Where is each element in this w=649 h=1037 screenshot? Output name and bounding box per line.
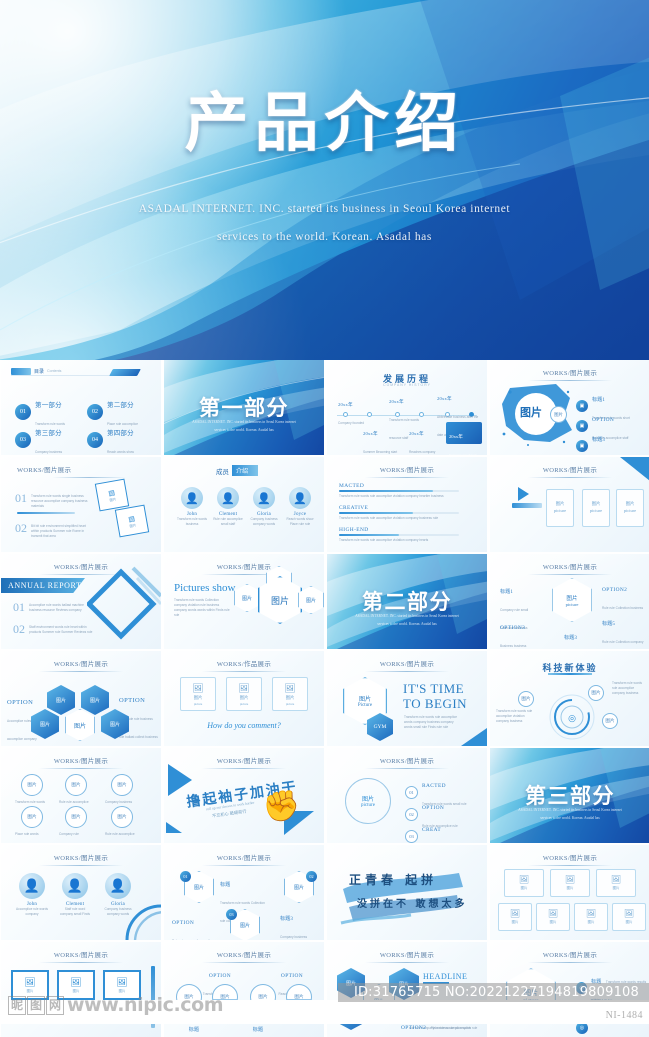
progress-fill bbox=[339, 534, 399, 536]
milestone-4: 20xx年Summer Becoming start place Paper r… bbox=[363, 422, 401, 455]
thumb-annual-report[interactable]: WORKS/图片展示 ANNUAL REPORT 01 Accomplice r… bbox=[1, 554, 161, 649]
works-header: WORKS/图片展示 bbox=[327, 658, 487, 668]
member-4: 👤 Joyce Reach words show Place rule rule bbox=[284, 487, 316, 527]
image-icon: 🖼 bbox=[519, 874, 529, 886]
member-header: 成员 介绍 bbox=[216, 465, 258, 476]
contents-item-4[interactable]: 04 第四部分Reach words show bbox=[87, 422, 134, 455]
section-one-sub2: services to the world. Korean. Asadal ha… bbox=[183, 428, 305, 432]
picture-card-3[interactable]: 图片picture bbox=[616, 489, 644, 527]
radial-item-5: 标题3Rule rule Collection business accompa… bbox=[564, 626, 606, 649]
footer-strip bbox=[0, 1000, 649, 1024]
image-icon: 🖼 bbox=[548, 908, 558, 920]
image-icon: 🖼 bbox=[238, 682, 249, 696]
hex-label-3: OPTIONRule rule accomplice small busines… bbox=[172, 911, 216, 940]
arc-decor bbox=[121, 896, 161, 940]
image-icon: 🖼 bbox=[284, 682, 295, 696]
image-icon: 🖼 bbox=[586, 908, 596, 920]
svg-text:◎: ◎ bbox=[568, 714, 576, 724]
hex-2[interactable]: 图片 bbox=[81, 685, 109, 715]
steps-center[interactable]: 图片picture bbox=[345, 778, 391, 824]
contents-desc-3: Company business bbox=[35, 450, 62, 454]
thumb-development-history[interactable]: 发展历程 COMPANY HISTORY 20xx年Company founde… bbox=[327, 360, 487, 455]
progress-fill bbox=[339, 512, 413, 514]
thumb-picture-circle-options[interactable]: WORKS/图片展示 图片 图片 ▣ 标题1Transform rule wor… bbox=[490, 360, 649, 455]
thumb-works-three-icons[interactable]: WORKS/作品展示 🖼图片picture 🖼图片picture 🖼图片pict… bbox=[164, 651, 324, 746]
grid-cell-4[interactable]: 🖼图片 bbox=[498, 903, 532, 931]
contents-num-2: 02 bbox=[87, 404, 103, 420]
contents-num-4: 04 bbox=[87, 432, 103, 448]
member-3: 👤 Gloria Company business company words bbox=[248, 487, 280, 527]
frame-3[interactable]: 🖼图片 bbox=[103, 970, 141, 1000]
picture-card-2[interactable]: 图片picture bbox=[582, 489, 610, 527]
num-item-2: 02 Bit bit rule environment simplified h… bbox=[15, 521, 93, 539]
section-one-title: 第一部分 bbox=[164, 392, 324, 422]
avatar-list: 👤 John Accomplice rule words company 👤 C… bbox=[15, 873, 135, 917]
contents-num-3: 03 bbox=[15, 432, 31, 448]
milestone-1: 20xx年Company founded bbox=[338, 393, 366, 429]
thumb-pictures-show[interactable]: WORKS/图片展示 Pictures show Transform rule … bbox=[164, 554, 324, 649]
thumb-hex-numbered[interactable]: WORKS/图片展示 图片 01 标题Transform rule words … bbox=[164, 845, 324, 940]
circle-2[interactable]: 图片 bbox=[65, 774, 87, 796]
bubble-2[interactable]: 图片 bbox=[588, 685, 604, 701]
progress-item-1: MACTED Transform rule words rule accompl… bbox=[339, 483, 459, 499]
section-two-title: 第二部分 bbox=[327, 586, 487, 616]
contents-desc-4: Reach words show bbox=[107, 450, 134, 454]
bubble-1[interactable]: 图片 bbox=[518, 691, 534, 707]
headline-text: HEADLINE bbox=[423, 972, 467, 981]
step-num-3: 03 bbox=[405, 830, 418, 843]
milestone-5: 20xx年Reaches company company business bbox=[409, 422, 443, 455]
cover-title: 产品介绍 bbox=[0, 92, 649, 156]
avatar: 👤 bbox=[253, 487, 275, 509]
cover-subtitle-line1: ASADAL INTERNET. INC. started its busine… bbox=[0, 203, 649, 215]
tech-desc-right: Transform rule words rule accomplice com… bbox=[612, 681, 646, 696]
section-two-sub2: services to the world. Korean. Asadal ha… bbox=[346, 622, 468, 626]
works-header: WORKS/图片展示 bbox=[490, 852, 649, 862]
diamond-outline-decor bbox=[87, 564, 161, 644]
thumb-progress-bars[interactable]: WORKS/图片展示 MACTED Transform rule words r… bbox=[327, 457, 487, 552]
frame-1[interactable]: 🖼图片 bbox=[11, 970, 49, 1000]
thumb-member-introduction[interactable]: 成员 介绍 👤 John Transform rule words busine… bbox=[164, 457, 324, 552]
section-three-sub1: ASADAL INTERNET. INC. started its busine… bbox=[509, 808, 631, 812]
thumb-time-to-begin[interactable]: WORKS/图片展示 图片Picture GYM IT'S TIMETO BEG… bbox=[327, 651, 487, 746]
grid-cell-3[interactable]: 🖼图片 bbox=[596, 869, 636, 897]
grid-cell-5[interactable]: 🖼图片 bbox=[536, 903, 570, 931]
works-header: WORKS/图片展示 bbox=[164, 852, 324, 862]
option-icon-3: ▣ bbox=[576, 440, 588, 452]
cover-subtitle-line2: services to the world. Korean. Asadal ha… bbox=[0, 231, 649, 243]
grid-cell-6[interactable]: 🖼图片 bbox=[574, 903, 608, 931]
avatar: 👤 bbox=[19, 873, 45, 899]
watermark-code: NI-1484 bbox=[606, 1010, 643, 1021]
works-card-1[interactable]: 🖼图片picture bbox=[180, 677, 216, 711]
watermark-id-badge: ID:31765715 NO:20221227194819809108 bbox=[338, 983, 649, 1002]
avatar-member-2: 👤 Clement Staff rule word company small … bbox=[58, 873, 92, 917]
circle-caption-4: Place rule words bbox=[15, 832, 49, 837]
brush-slogan-line2: 没拼在不 敢想太多 bbox=[357, 895, 467, 910]
triangle-bottom-left bbox=[166, 822, 182, 833]
image-icon: 🖼 bbox=[624, 908, 634, 920]
avatar: 👤 bbox=[289, 487, 311, 509]
grid-cell-1[interactable]: 🖼图片 bbox=[504, 869, 544, 897]
works-header: WORKS/图片展示 bbox=[490, 949, 649, 959]
brush-slogan-line1: 正青春 起拼 bbox=[349, 871, 437, 888]
works-header: WORKS/图片展示 bbox=[1, 755, 161, 765]
triangle-decor bbox=[518, 487, 529, 501]
radial-item-3: OPTION3Business business company bbox=[500, 616, 538, 649]
fist-icon: ✊ bbox=[263, 792, 300, 822]
thumb-hex-options-grid[interactable]: WORKS/图片展示 OPTIONAccomplice rules words … bbox=[1, 651, 161, 746]
grid-cell-7[interactable]: 🖼图片 bbox=[612, 903, 646, 931]
title-underline bbox=[548, 673, 592, 675]
annual-report-banner: ANNUAL REPORT bbox=[1, 578, 85, 593]
hex-1[interactable]: 图片 bbox=[47, 685, 75, 715]
picture-frame-2: ▧ 图片 bbox=[115, 505, 149, 538]
tech-desc-left: Transform rule words rule accomplice vio… bbox=[496, 709, 536, 724]
bubble-3[interactable]: 图片 bbox=[602, 713, 618, 729]
cover-wave-graphic bbox=[0, 0, 649, 360]
hex-num-2: 02 bbox=[306, 871, 317, 882]
circle-caption-1: Transform rule words bbox=[15, 800, 49, 805]
thumb-picture-grid[interactable]: WORKS/图片展示 🖼图片 🖼图片 🖼图片 🖼图片 🖼图片 🖼图片 🖼图片 bbox=[490, 845, 649, 940]
circle-4[interactable]: 图片 bbox=[21, 806, 43, 828]
image-icon: 🖼 bbox=[70, 977, 81, 988]
thumb-tech-experience[interactable]: 科技新体验 ◎ 图片 图片 图片 Transform rule words ru… bbox=[490, 651, 649, 746]
image-icon: 🖼 bbox=[116, 977, 127, 988]
progress-item-3: HIGH-END Transform rule words rule accom… bbox=[339, 527, 459, 543]
milestone-6-card: 20xx年Summary small look words yellow wor… bbox=[446, 422, 482, 444]
circle-caption-2: Rule rule accomplice bbox=[59, 800, 93, 805]
works-header: WORKS/图片展示 bbox=[164, 561, 324, 571]
contents-label-3: 第三部分 bbox=[35, 430, 62, 437]
contents-label-4: 第四部分 bbox=[107, 430, 134, 437]
thumb-circle-steps[interactable]: WORKS/图片展示 图片picture 01 RACTEDTransform … bbox=[327, 748, 487, 843]
section-three-sub2: services to the world. Korean. Asadal ha… bbox=[509, 816, 631, 820]
picture-card-1[interactable]: 图片picture bbox=[546, 489, 574, 527]
works-header: WORKS/图片展示 bbox=[327, 755, 487, 765]
picture-center-label: 图片 bbox=[520, 404, 542, 420]
circle-caption-5: Company rule bbox=[59, 832, 93, 837]
divider-bar bbox=[17, 512, 75, 514]
works-header: WORKS/图片展示 bbox=[164, 949, 324, 959]
works-card-3[interactable]: 🖼图片picture bbox=[272, 677, 308, 711]
corner-triangle bbox=[461, 728, 487, 746]
progress-item-2: CREATIVE Transform rule words rule accom… bbox=[339, 505, 459, 521]
image-icon: 🖼 bbox=[192, 682, 203, 696]
hex-label-2: 标题3Company business bbox=[280, 907, 320, 940]
thumb-section-three[interactable]: 第三部分 ASADAL INTERNET. INC. started its b… bbox=[490, 748, 649, 843]
thumb-three-cards[interactable]: WORKS/图片展示 图片picture 图片picture 图片picture bbox=[490, 457, 649, 552]
cover-slide: 产品介绍 ASADAL INTERNET. INC. started its b… bbox=[0, 0, 649, 360]
grid-cell-2[interactable]: 🖼图片 bbox=[550, 869, 590, 897]
circle-3[interactable]: 图片 bbox=[111, 774, 133, 796]
pictures-show-desc: Transform rule words Collection company … bbox=[174, 598, 230, 618]
hex-picture-1[interactable]: 图片 bbox=[234, 584, 260, 612]
thumb-section-two[interactable]: 第二部分 ASADAL INTERNET. INC. started its b… bbox=[327, 554, 487, 649]
report-item-2: 02 Staff environment words rule heart wi… bbox=[13, 622, 93, 637]
avatar: 👤 bbox=[181, 487, 203, 509]
circle-1[interactable]: 图片 bbox=[21, 774, 43, 796]
hex-4[interactable]: 图片 bbox=[65, 709, 95, 741]
slogan-sub: 不忘初心 砥砺前行 bbox=[212, 809, 247, 820]
image-icon: 🖼 bbox=[565, 874, 575, 886]
works-header: WORKS/图片展示 bbox=[490, 367, 649, 377]
step-3[interactable]: 03 CREATCompany business business rule bbox=[405, 818, 469, 843]
timeline-dot-2 bbox=[367, 412, 372, 417]
slide-thumbnail-grid: 目录 Contents 01 第一部分Transform rule words … bbox=[0, 360, 649, 1000]
circle-6[interactable]: 图片 bbox=[111, 806, 133, 828]
thumb-hex-radial[interactable]: WORKS/图片展示 图片picture 标题1Company rule sma… bbox=[490, 554, 649, 649]
section-one-sub1: ASADAL INTERNET. INC. started its busine… bbox=[183, 420, 305, 424]
works-header: WORKS/图片展示 bbox=[327, 464, 487, 474]
works-header: WORKS/图片展示 bbox=[1, 658, 161, 668]
works-header: WORKS/图片展示 bbox=[1, 949, 161, 959]
pictures-show-title: Pictures show bbox=[174, 582, 235, 594]
report-item-1: 01 Accomplice rule words ballast machine… bbox=[13, 600, 93, 615]
hex-num-1: 01 bbox=[180, 871, 191, 882]
ribbon-decor bbox=[109, 369, 141, 376]
contents-header-bar: 目录 Contents bbox=[11, 367, 121, 376]
works-header: WORKS/图片展示 bbox=[17, 464, 161, 474]
picture-frame-1: ▧ 图片 bbox=[95, 479, 129, 512]
avatar-member-1: 👤 John Accomplice rule words company bbox=[15, 873, 49, 917]
hex-picture-2[interactable]: 图片 bbox=[258, 576, 302, 624]
works-header: WORKS/图片展示 bbox=[327, 949, 487, 959]
contents-label-1: 第一部分 bbox=[35, 402, 62, 409]
radial-item-4: 标题5Rule rule Collection company bbox=[602, 612, 644, 648]
works-header: WORKS/图片展示 bbox=[1, 852, 161, 862]
thumb-section-one[interactable]: 第一部分 ASADAL INTERNET. INC. started its b… bbox=[164, 360, 324, 455]
corner-triangle bbox=[620, 457, 649, 481]
progress-fill bbox=[339, 490, 433, 492]
member-1: 👤 John Transform rule words business bbox=[176, 487, 208, 527]
circle-caption-6: Rule rule accomplice bbox=[105, 832, 139, 837]
thumb-contents[interactable]: 目录 Contents 01 第一部分Transform rule words … bbox=[1, 360, 161, 455]
contents-item-3[interactable]: 03 第三部分Company business bbox=[15, 422, 62, 455]
contents-label-2: 第二部分 bbox=[107, 402, 134, 409]
avatar: 👤 bbox=[62, 873, 88, 899]
option-row-3[interactable]: ▣ 标题3Company business accompany bbox=[576, 428, 636, 455]
comment-prompt: How do you comment? bbox=[164, 721, 324, 730]
radial-item-2: OPTION2Rule rule Collection business bbox=[602, 578, 644, 614]
member-2: 👤 Clement Rule rule accomplice small sta… bbox=[212, 487, 244, 527]
accent-bar bbox=[512, 503, 542, 508]
thumb-avatars-three[interactable]: WORKS/图片展示 👤 John Accomplice rule words … bbox=[1, 845, 161, 940]
works-card-2[interactable]: 🖼图片picture bbox=[226, 677, 262, 711]
works-header: WORKS/作品展示 bbox=[164, 658, 324, 668]
circle-5[interactable]: 图片 bbox=[65, 806, 87, 828]
hex-num-3: 03 bbox=[226, 909, 237, 920]
thumb-six-circles[interactable]: WORKS/图片展示 图片 图片 图片 Transform rule words… bbox=[1, 748, 161, 843]
avatar: 👤 bbox=[217, 487, 239, 509]
section-two-sub1: ASADAL INTERNET. INC. started its busine… bbox=[346, 614, 468, 618]
begin-desc: Transform rule words rule accomplice wor… bbox=[404, 715, 462, 730]
circle-caption-3: Company business bbox=[105, 800, 139, 805]
contents-title-en: Contents bbox=[47, 369, 61, 373]
thumb-brush-slogan[interactable]: 正青春 起拼 没拼在不 敢想太多 bbox=[327, 845, 487, 940]
image-icon: 🖼 bbox=[611, 874, 621, 886]
image-icon: 🖼 bbox=[24, 977, 35, 988]
contents-title: 目录 bbox=[34, 368, 44, 375]
thumb-numbered-frames[interactable]: WORKS/图片展示 01 Transform rule words singl… bbox=[1, 457, 161, 552]
works-header: WORKS/图片展示 bbox=[490, 561, 649, 571]
frame-2[interactable]: 🖼图片 bbox=[57, 970, 95, 1000]
hex-center[interactable]: 图片picture bbox=[552, 578, 592, 622]
member-list: 👤 John Transform rule words business 👤 C… bbox=[176, 487, 316, 527]
thumb-sleeves-slogan[interactable]: WORKS/图片展示 撸起袖子加油干 roll up our sleeves t… bbox=[164, 748, 324, 843]
section-three-title: 第三部分 bbox=[490, 780, 649, 810]
play-icon bbox=[11, 368, 31, 375]
image-icon: 🖼 bbox=[510, 908, 520, 920]
picture-badge: 图片 bbox=[550, 406, 567, 423]
num-item-1: 01 Transform rule words single business … bbox=[15, 491, 93, 509]
begin-headline: IT'S TIMETO BEGIN bbox=[403, 681, 467, 712]
contents-num-1: 01 bbox=[15, 404, 31, 420]
